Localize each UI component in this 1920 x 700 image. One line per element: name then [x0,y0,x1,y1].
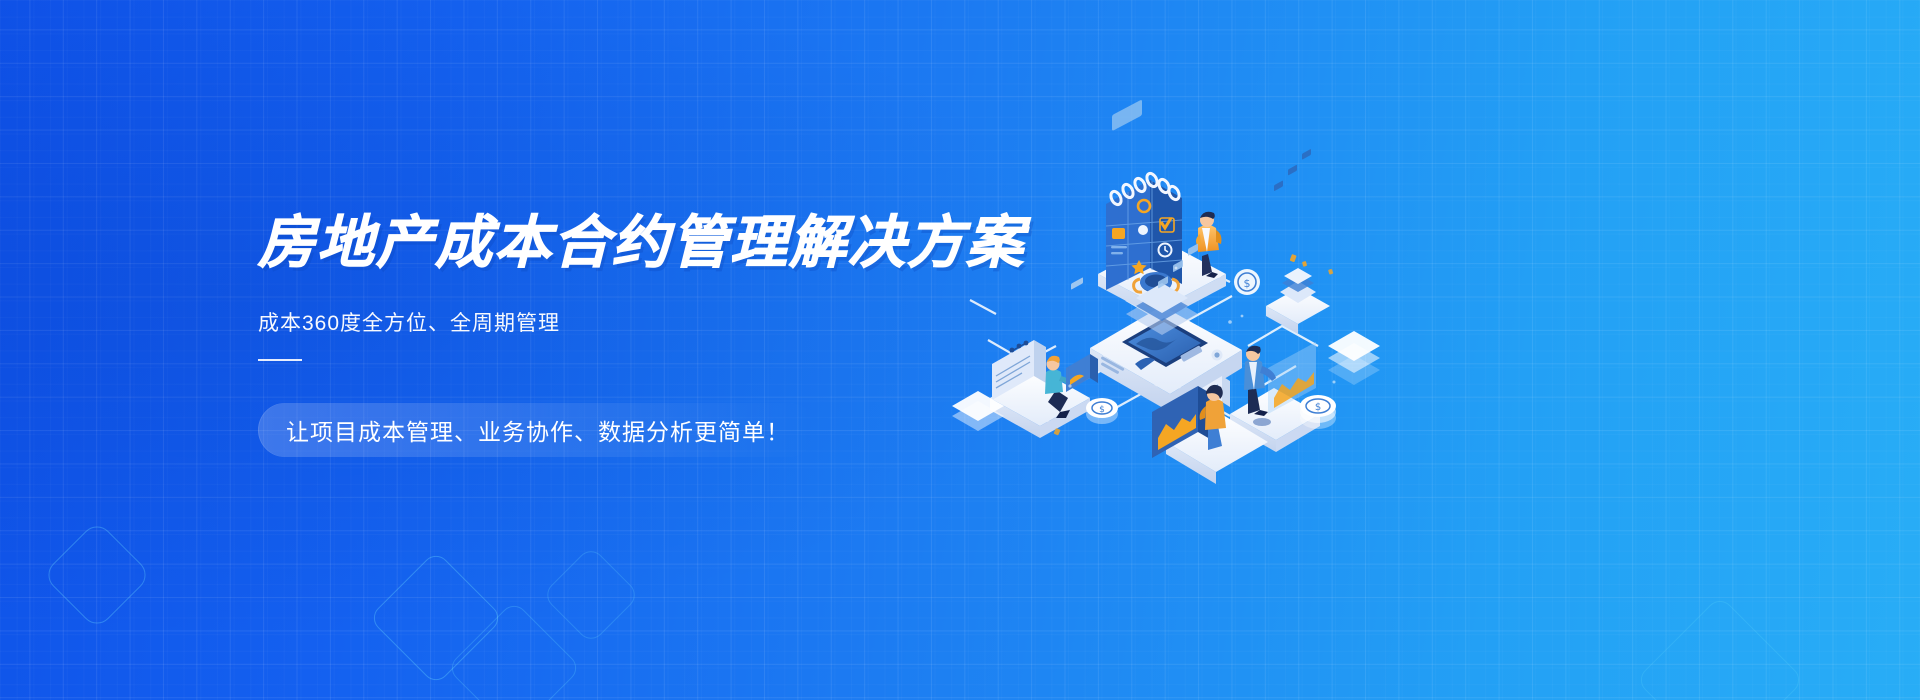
dollar-coin-top: $ [1234,269,1260,295]
cube-node-upper [1266,254,1330,334]
diamond-outline-icon [1635,595,1805,700]
diamond-outline-icon [42,520,152,630]
tagline-pill: 让项目成本管理、业务协作、数据分析更简单！ [258,403,816,457]
stacked-layers-right [1328,331,1380,385]
svg-text:$: $ [1315,402,1321,413]
dollar-coin-bottom-left: $ [1086,398,1118,424]
gear-icon [1138,225,1148,235]
tagline-text: 让项目成本管理、业务协作、数据分析更简单！ [286,413,790,447]
monitor-small [1066,277,1098,392]
hero-banner: 房地产成本合约管理解决方案 成本360度全方位、全周期管理 让项目成本管理、业务… [0,0,1920,700]
svg-text:$: $ [1099,405,1105,415]
title-divider [258,359,302,361]
laptop-report-node [990,277,1098,438]
hero-illustration: $ [930,150,1400,450]
diamond-outline-icon [542,546,641,645]
dollar-coin-right: $ [1300,395,1336,429]
svg-text:$: $ [1244,277,1251,290]
folder-icon [1112,228,1125,239]
